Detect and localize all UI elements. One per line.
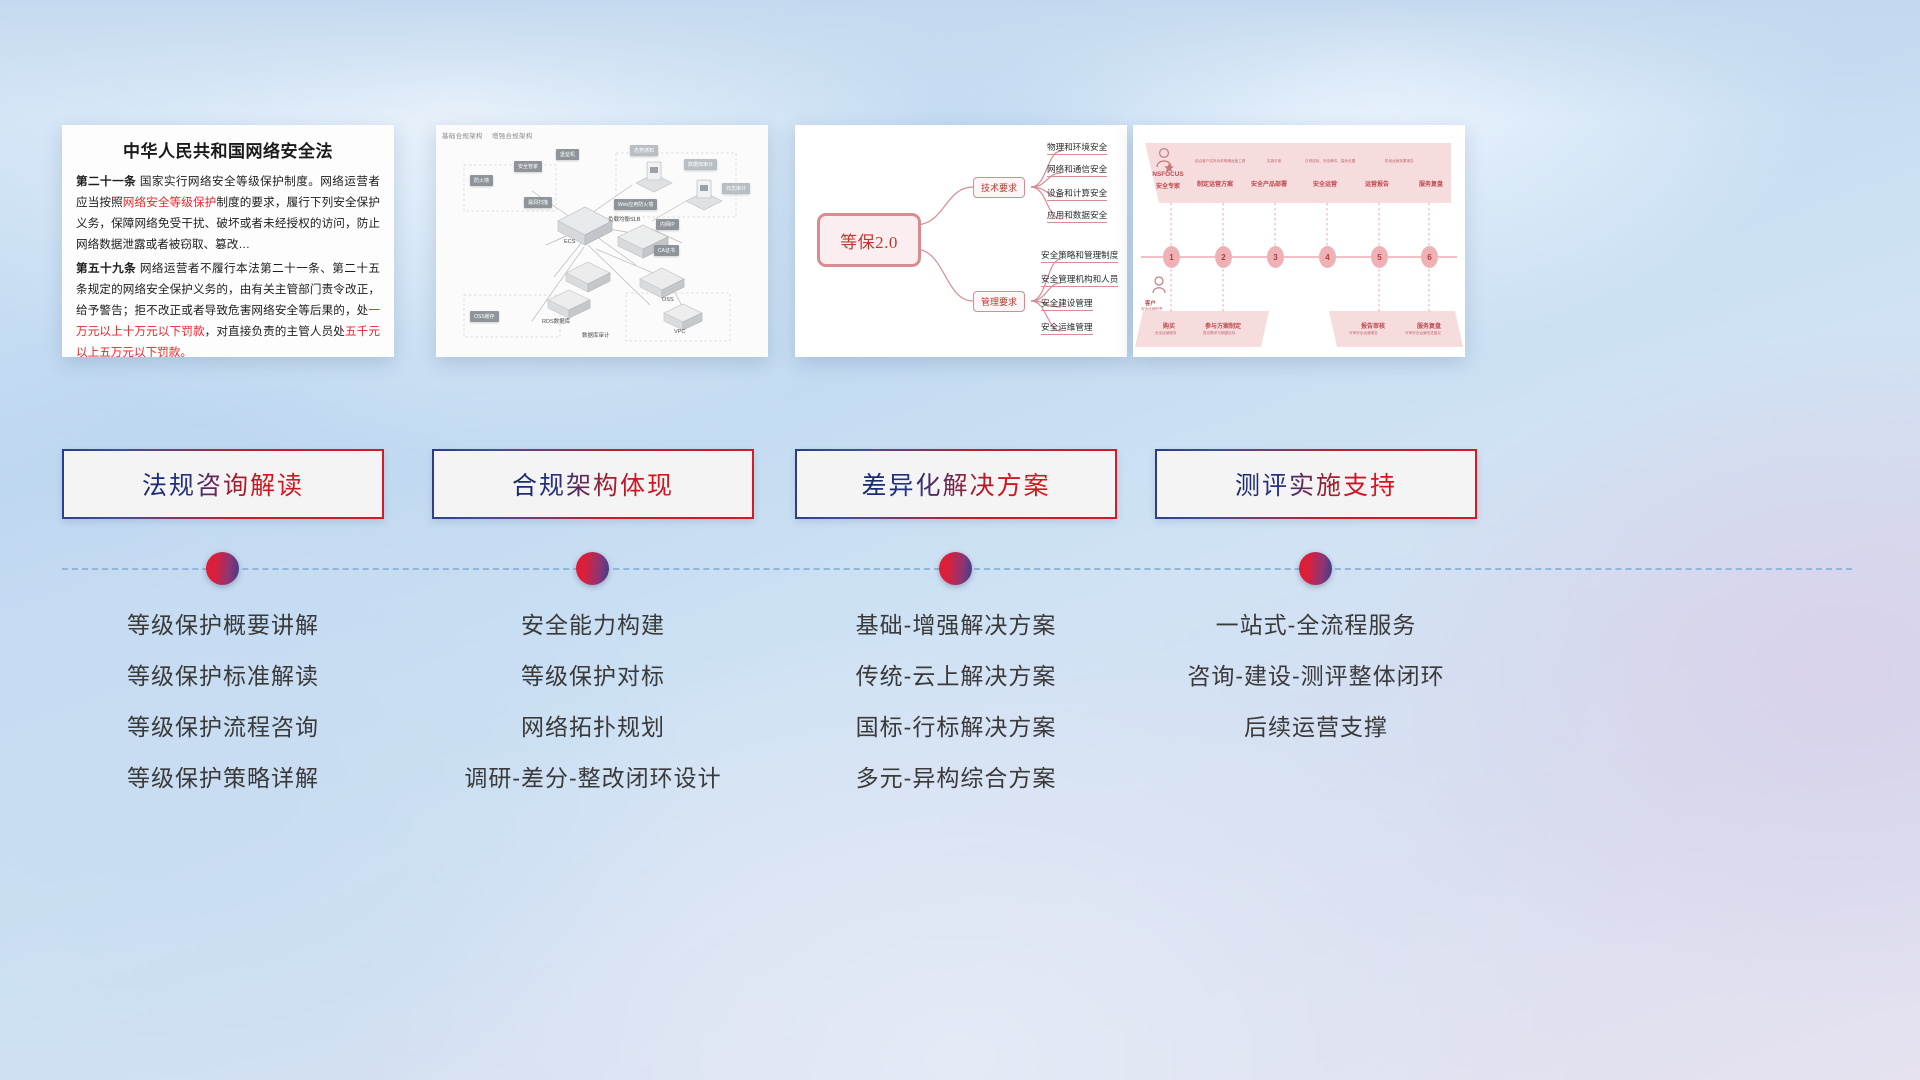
node-web-application-firewall: Web应用防火墙	[614, 199, 657, 210]
nsfocus-caption-4: 日常巡检、安全事件、高危处置	[1305, 159, 1355, 164]
cube-server-ip-icon	[682, 177, 726, 217]
list-item: 后续运营支撑	[1155, 702, 1477, 753]
label-text-1: 法规咨询解读	[142, 466, 304, 502]
node-security-manager: 安全管家	[514, 161, 542, 172]
nsfocus-bottom-title-3: 报告审核	[1361, 321, 1385, 330]
node-bastion-host: 堡垒机	[556, 149, 579, 160]
list-item: 等级保护流程咨询	[62, 702, 384, 753]
label-database-audit: 数据库审计	[582, 331, 610, 339]
nsfocus-caption-5: 阶段运营效果报告	[1385, 159, 1414, 164]
nsfocus-title-5: 运营报告	[1365, 179, 1389, 188]
card-law-document[interactable]: 中华人民共和国网络安全法 第二十一条 国家实行网络安全等级保护制度。网络运营者应…	[62, 125, 394, 357]
detail-column-1: 等级保护概要讲解 等级保护标准解读 等级保护流程咨询 等级保护策略详解	[62, 600, 384, 804]
label-text-4: 测评实施支持	[1235, 466, 1397, 502]
nsfocus-diagram: NSFOCUS 安全专家 结合客户实际诉求明确运营工具 实施方案 日常巡检、安全…	[1133, 125, 1465, 357]
nsfocus-step-dot-1: 1	[1163, 246, 1180, 268]
node-log-audit: 日志审计	[722, 183, 750, 194]
law-title: 中华人民共和国网络安全法	[76, 137, 380, 162]
node-firewall: 防火墙	[470, 175, 493, 186]
law-article-21-highlight: 网络安全等级保护	[123, 196, 217, 209]
nsfocus-bottom-title-2: 参与方案制定	[1205, 321, 1241, 330]
node-internal-ip: 内网IP	[656, 219, 679, 230]
law-article-21-label: 第二十一条	[76, 175, 136, 188]
architecture-diagram: 基础合规架构增强合规架构	[436, 125, 768, 357]
detail-column-3: 基础-增强解决方案 传统-云上解决方案 国标-行标解决方案 多元-异构综合方案	[795, 600, 1117, 804]
node-situational-awareness: 态势感知	[630, 145, 658, 156]
mindmap-branch-management: 管理要求	[973, 291, 1025, 312]
list-item: 一站式-全流程服务	[1155, 600, 1477, 651]
card-mindmap[interactable]: 等保2.0 技术要求 管理要求 物理和环境安全 网络和通信安全 设备和计算安全 …	[795, 125, 1127, 357]
label-text-2: 合规架构体现	[512, 466, 674, 502]
nsfocus-step-dot-4: 4	[1319, 246, 1336, 268]
label-box-compliance-architecture[interactable]: 合规架构体现	[432, 449, 754, 519]
mindmap-diagram: 等保2.0 技术要求 管理要求 物理和环境安全 网络和通信安全 设备和计算安全 …	[795, 125, 1127, 357]
mindmap-leaf-network-communication: 网络和通信安全	[1047, 163, 1107, 177]
mindmap-leaf-policy-system: 安全策略和管理制度	[1041, 249, 1118, 263]
list-item: 咨询-建设-测评整体闭环	[1155, 651, 1477, 702]
nsfocus-caption-2: 结合客户实际诉求明确运营工具	[1195, 159, 1245, 164]
label-vpc: VPC	[674, 329, 685, 335]
mindmap-leaf-device-computing: 设备和计算安全	[1047, 187, 1107, 201]
list-item: 等级保护概要讲解	[62, 600, 384, 651]
nsfocus-step-dot-3: 3	[1267, 246, 1284, 268]
label-rds: RDS数据库	[542, 317, 570, 325]
nsfocus-bottom-title-1: 购买	[1163, 321, 1175, 330]
law-article-59-label: 第五十九条	[76, 262, 136, 275]
mindmap-branch-technical: 技术要求	[973, 177, 1025, 198]
detail-column-4: 一站式-全流程服务 咨询-建设-测评整体闭环 后续运营支撑	[1155, 600, 1477, 753]
timeline-dot-3[interactable]	[939, 552, 972, 585]
nsfocus-brand-sub: 安全专家	[1145, 181, 1191, 190]
law-article-59: 第五十九条 网络运营者不履行本法第二十一条、第二十五条规定的网络安全保护义务的，…	[76, 258, 380, 357]
mindmap-root: 等保2.0	[817, 213, 921, 267]
nsfocus-title-4: 安全运营	[1313, 179, 1337, 188]
nsfocus-step-dot-2: 2	[1215, 246, 1232, 268]
nsfocus-step-dot-5: 5	[1371, 246, 1388, 268]
card-row: 中华人民共和国网络安全法 第二十一条 国家实行网络安全等级保护制度。网络运营者应…	[0, 125, 1920, 360]
list-item: 多元-异构综合方案	[795, 753, 1117, 804]
mindmap-leaf-org-personnel: 安全管理机构和人员	[1041, 273, 1118, 287]
nsfocus-bottom-caption-2: 提出需求与期望目标	[1203, 331, 1235, 336]
label-box-differentiated-solution[interactable]: 差异化解决方案	[795, 449, 1117, 519]
detail-column-2: 安全能力构建 等级保护对标 网络拓扑规划 调研-差分-整改闭环设计	[432, 600, 754, 804]
nsfocus-bottom-title-4: 服务复盘	[1417, 321, 1441, 330]
law-body: 中华人民共和国网络安全法 第二十一条 国家实行网络安全等级保护制度。网络运营者应…	[62, 125, 394, 357]
cube-server-audit-icon	[632, 159, 676, 199]
mindmap-leaf-construction-mgmt: 安全建设管理	[1041, 297, 1093, 311]
timeline-dot-4[interactable]	[1299, 552, 1332, 585]
list-item: 安全能力构建	[432, 600, 754, 651]
timeline-dot-1[interactable]	[206, 552, 239, 585]
list-item: 基础-增强解决方案	[795, 600, 1117, 651]
node-ca-certificate: CA证书	[654, 245, 679, 256]
card-compliance-architecture[interactable]: 基础合规架构增强合规架构	[436, 125, 768, 357]
nsfocus-customer-sub: 安全运营职责	[1141, 307, 1163, 312]
label-ecs: ECS	[564, 239, 575, 245]
mindmap-leaf-physical-environment: 物理和环境安全	[1047, 141, 1107, 155]
list-item: 等级保护策略详解	[62, 753, 384, 804]
node-database-audit-top: 数据库审计	[684, 159, 717, 170]
law-article-59-part2: ，对直接负责的主管人员处	[205, 325, 345, 338]
label-box-assessment-support[interactable]: 测评实施支持	[1155, 449, 1477, 519]
background-top-wash	[0, 0, 1920, 120]
mindmap-leaf-operation-mgmt: 安全运维管理	[1041, 321, 1093, 335]
nsfocus-brand: NSFOCUS	[1145, 171, 1191, 178]
list-item: 国标-行标解决方案	[795, 702, 1117, 753]
list-item: 等级保护标准解读	[62, 651, 384, 702]
node-left-group: 漏洞扫描	[524, 197, 552, 208]
list-item: 传统-云上解决方案	[795, 651, 1117, 702]
nsfocus-bottom-caption-3: 评审安全运营报告	[1349, 331, 1378, 336]
list-item: 网络拓扑规划	[432, 702, 754, 753]
law-article-21: 第二十一条 国家实行网络安全等级保护制度。网络运营者应当按照网络安全等级保护制度…	[76, 171, 380, 255]
nsfocus-step-dot-6: 6	[1421, 246, 1438, 268]
label-text-3: 差异化解决方案	[861, 466, 1050, 502]
nsfocus-title-3: 安全产品部署	[1251, 179, 1287, 188]
node-oss-cache-box: OSS缓存	[470, 311, 499, 322]
nsfocus-caption-3: 实施方案	[1267, 159, 1281, 164]
label-box-regulation-consulting[interactable]: 法规咨询解读	[62, 449, 384, 519]
nsfocus-title-6: 服务复盘	[1419, 179, 1443, 188]
nsfocus-bottom-caption-4: 评审安全运营改进建议	[1405, 331, 1441, 336]
mindmap-leaf-application-data: 应用和数据安全	[1047, 209, 1107, 223]
list-item: 等级保护对标	[432, 651, 754, 702]
nsfocus-bottom-caption-1: 安全运营服务	[1155, 331, 1177, 336]
label-load-balancer: 负载均衡SLB	[608, 215, 640, 223]
label-row: 法规咨询解读 合规架构体现 差异化解决方案 测评实施支持	[0, 449, 1920, 519]
nsfocus-customer: 客户	[1145, 299, 1156, 307]
nsfocus-title-2: 制定运营方案	[1197, 179, 1233, 188]
timeline-dot-2[interactable]	[576, 552, 609, 585]
card-nsfocus-service-flow[interactable]: NSFOCUS 安全专家 结合客户实际诉求明确运营工具 实施方案 日常巡检、安全…	[1133, 125, 1465, 357]
label-oss: OSS	[662, 297, 674, 303]
nsfocus-bands	[1133, 125, 1465, 357]
list-item: 调研-差分-整改闭环设计	[432, 753, 754, 804]
